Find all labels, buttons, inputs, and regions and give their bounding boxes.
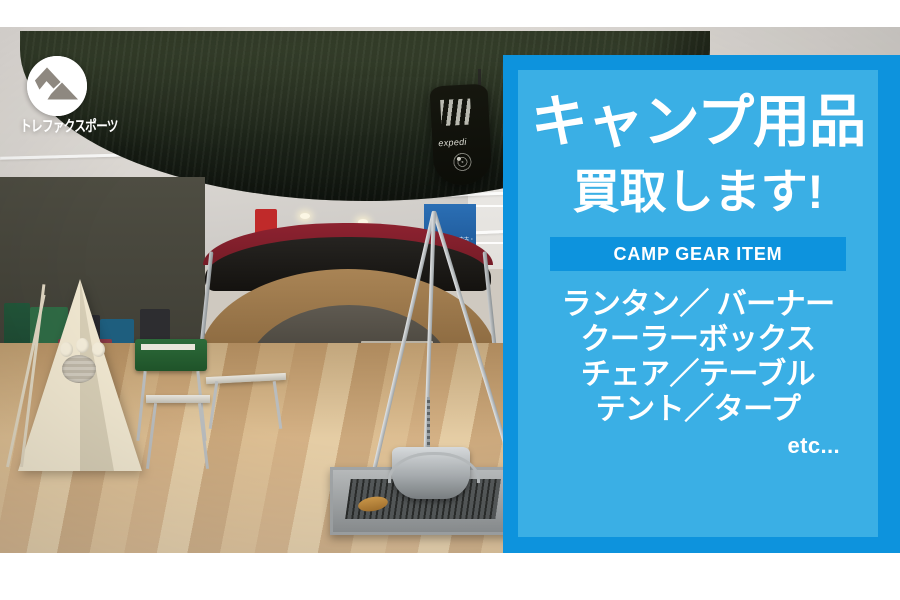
etc-label: etc... <box>787 433 840 459</box>
mountain-circle-logo-icon <box>26 55 88 117</box>
headline-secondary: 買取します! <box>573 168 824 215</box>
gear-category-item: チェア／テーブル <box>581 357 815 392</box>
brand-logo[interactable]: トレファクスポーツ <box>20 55 135 134</box>
ceiling-light <box>300 213 310 219</box>
gear-category-item: ランタン／ バーナー <box>561 287 834 322</box>
brand-name: トレファクスポーツ <box>20 119 110 134</box>
gear-category-item: クーラーボックス <box>580 322 815 357</box>
teepee-ear <box>60 342 73 357</box>
stuff-sack: expedi <box>429 84 492 187</box>
sack-logo-icon <box>451 150 474 173</box>
headline-primary: キャンプ用品 <box>531 94 865 151</box>
sack-brand-text: expedi <box>438 137 467 148</box>
gear-category-item: テント／タープ <box>596 392 801 427</box>
promo-panel: キャンプ用品 買取します! CAMP GEAR ITEM ランタン／ バーナー … <box>503 55 900 553</box>
promo-panel-content: キャンプ用品 買取します! CAMP GEAR ITEM ランタン／ バーナー … <box>518 70 878 537</box>
promo-panel-inner: キャンプ用品 買取します! CAMP GEAR ITEM ランタン／ バーナー … <box>518 70 878 537</box>
teepee-ear <box>92 342 105 357</box>
teepee-ear <box>76 338 89 353</box>
camp-gear-item-label: CAMP GEAR ITEM <box>614 244 783 265</box>
camp-stove <box>135 339 207 371</box>
tripod-chain <box>427 397 430 449</box>
camp-gear-item-bar: CAMP GEAR ITEM <box>550 237 846 271</box>
banner-root: expedi キャンプ用品 中古・買取 <box>0 0 900 600</box>
folding-table <box>146 395 210 403</box>
gear-category-list: ランタン／ バーナー クーラーボックス チェア／テーブル テント／タープ <box>518 287 878 427</box>
sack-graphic <box>440 98 471 126</box>
stove-label <box>141 344 195 350</box>
teepee-window <box>62 355 96 383</box>
